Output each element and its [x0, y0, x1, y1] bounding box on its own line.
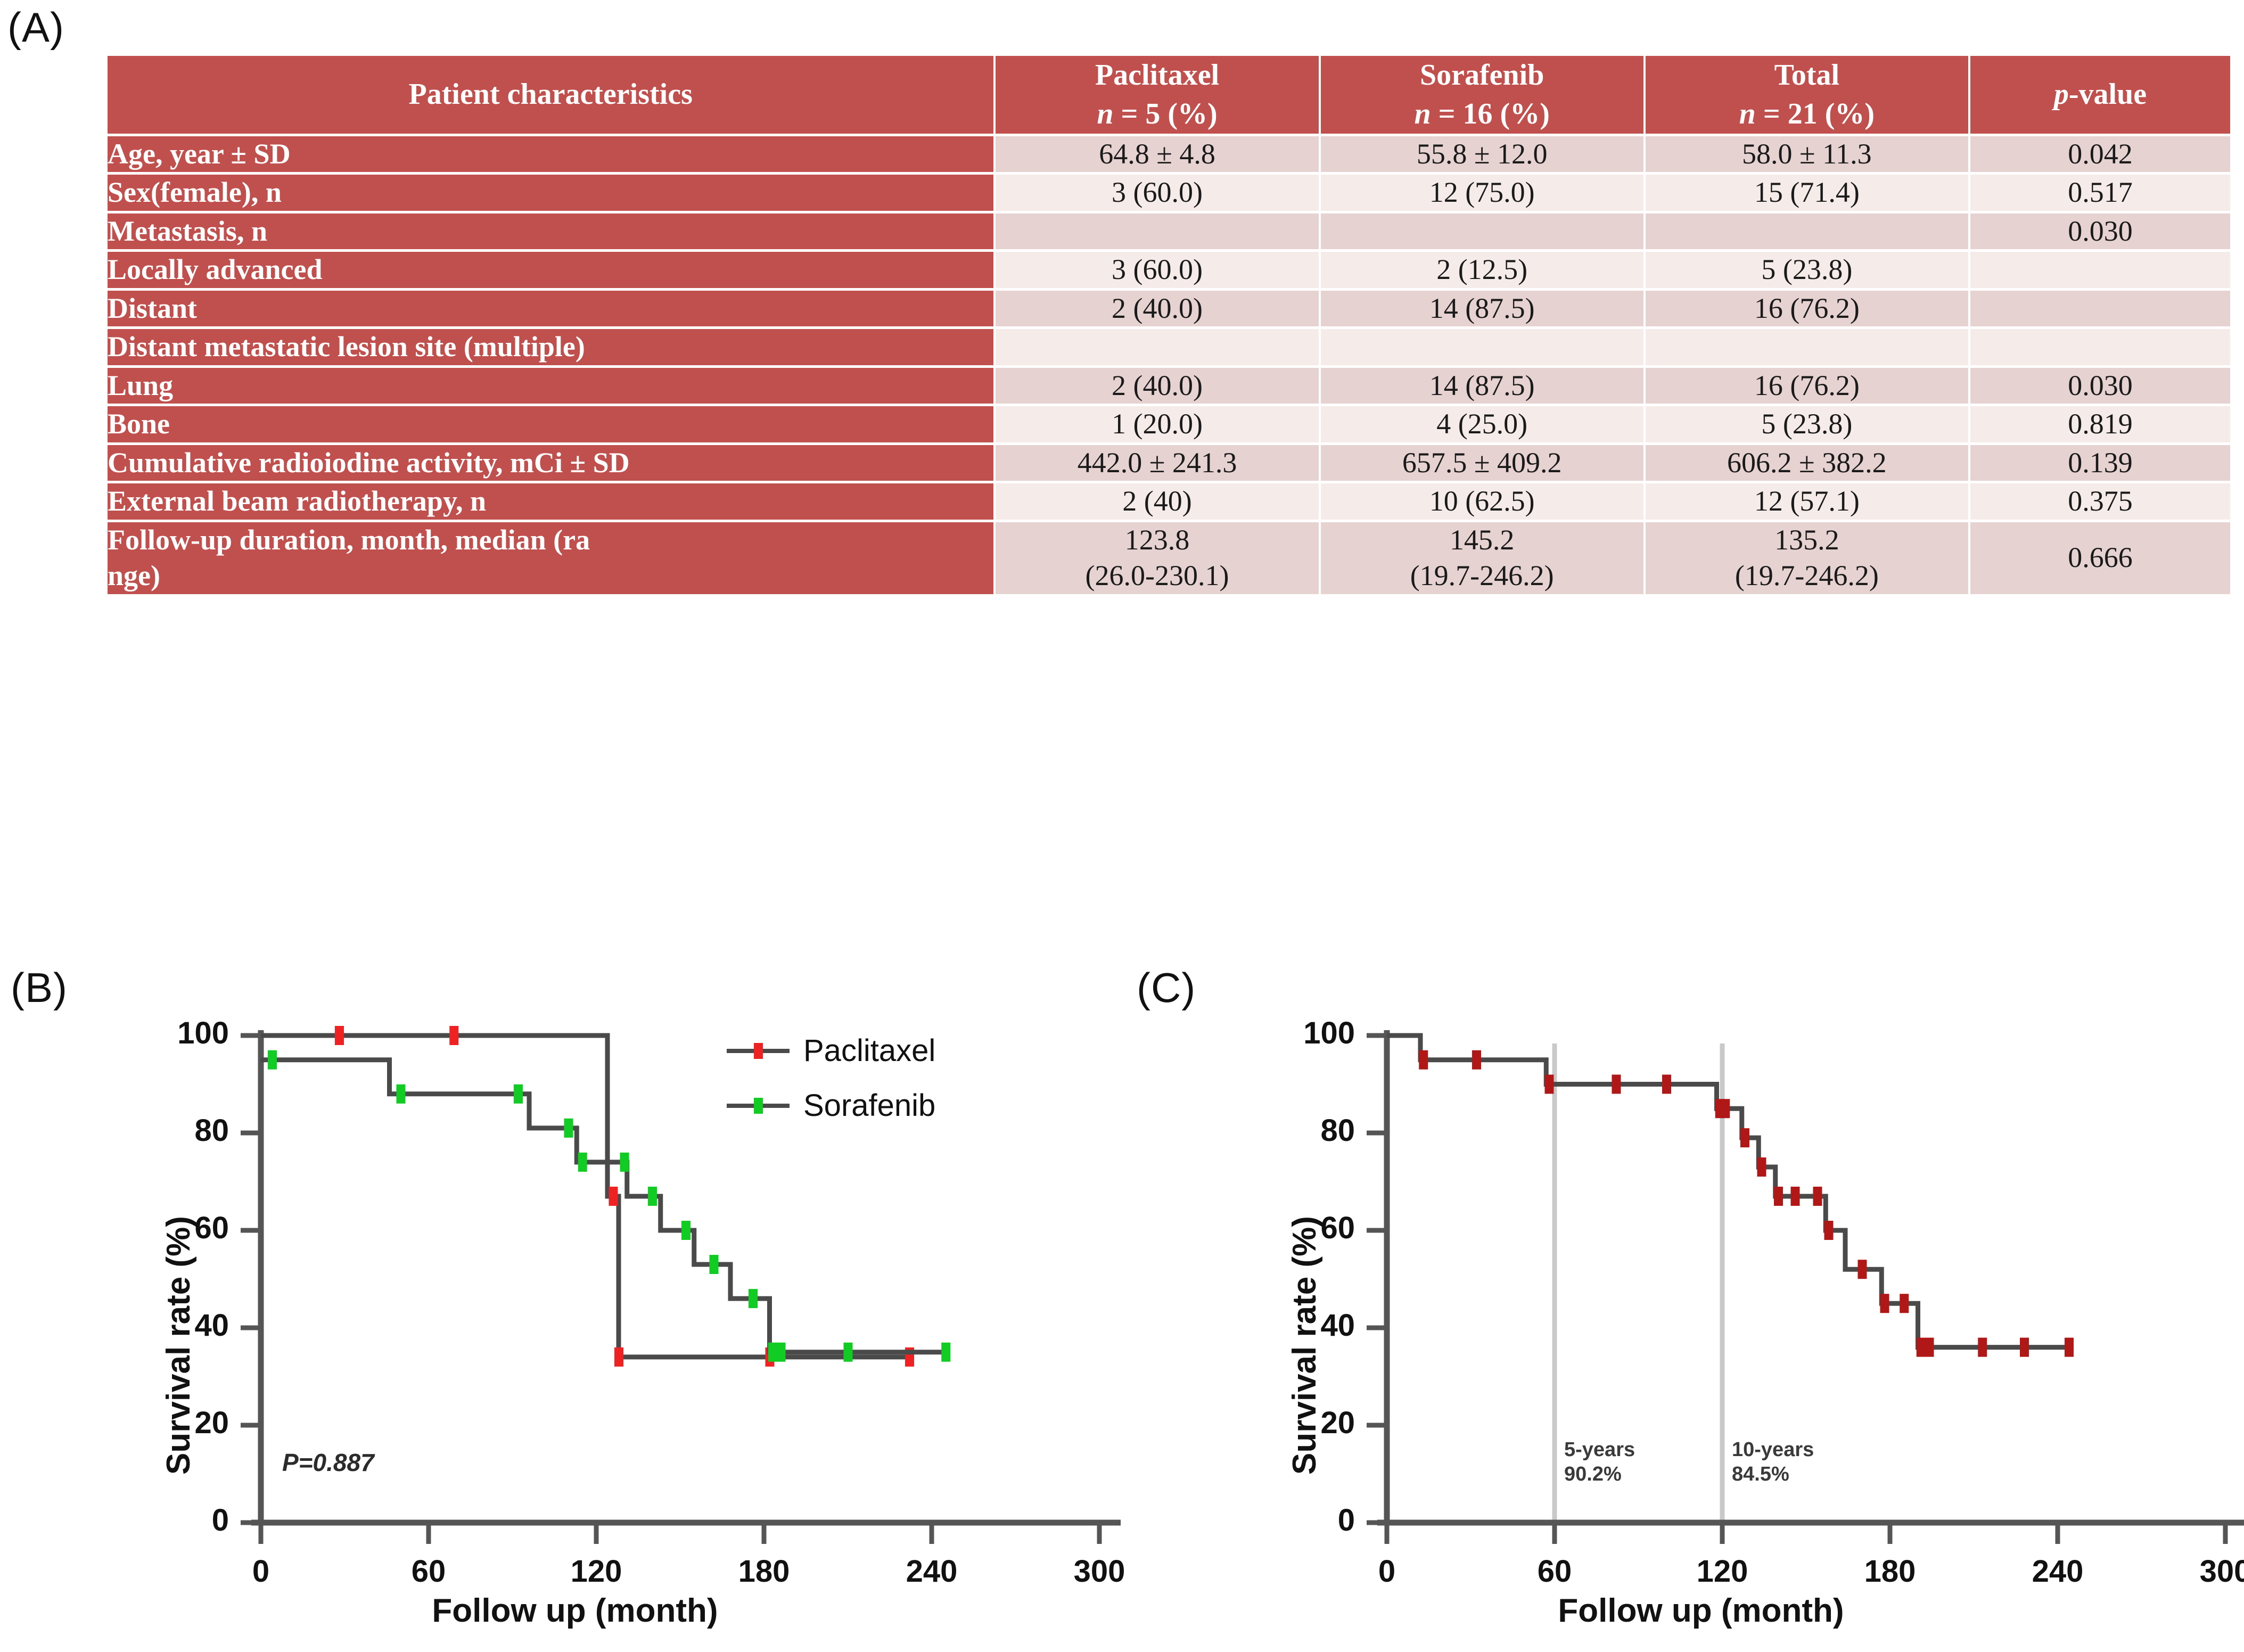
cell-paclitaxel: 2 (40.0)	[996, 368, 1318, 404]
cell-pvalue: 0.517	[1970, 175, 2230, 211]
cell-paclitaxel: 3 (60.0)	[996, 252, 1318, 288]
cell-sorafenib: 4 (25.0)	[1321, 406, 1643, 442]
censor-tick-marker	[681, 1221, 691, 1240]
table-row: Metastasis, n0.030	[108, 213, 2230, 250]
x-tick-label: 300	[2177, 1554, 2244, 1589]
cell-sorafenib: 10 (62.5)	[1321, 483, 1643, 520]
censor-tick-marker	[1978, 1338, 1987, 1357]
table-row: Locally advanced3 (60.0)2 (12.5)5 (23.8)	[108, 252, 2230, 288]
table-row: Sex(female), n3 (60.0)12 (75.0)15 (71.4)…	[108, 175, 2230, 211]
censor-tick-marker	[2065, 1338, 2074, 1357]
censor-tick-marker	[1545, 1075, 1554, 1094]
cell-sorafenib	[1321, 213, 1643, 250]
cell-paclitaxel: 1 (20.0)	[996, 406, 1318, 442]
cell-sorafenib: 14 (87.5)	[1321, 368, 1643, 404]
censor-tick-marker	[578, 1153, 587, 1172]
cell-pvalue	[1970, 329, 2230, 365]
y-tick-label: 80	[1259, 1113, 1355, 1148]
row-label: Lung	[108, 368, 993, 404]
cell-paclitaxel	[996, 329, 1318, 365]
column-header-sorafenib: Sorafenibn = 16 (%)	[1321, 56, 1643, 134]
x-tick-label: 180	[716, 1554, 812, 1589]
x-tick-label: 0	[213, 1554, 309, 1589]
censor-tick-marker	[614, 1347, 623, 1367]
cell-paclitaxel: 3 (60.0)	[996, 175, 1318, 211]
cell-paclitaxel	[996, 213, 1318, 250]
cell-sorafenib: 2 (12.5)	[1321, 252, 1643, 288]
x-tick-label: 120	[548, 1554, 644, 1589]
y-tick-label: 100	[1259, 1015, 1355, 1051]
panel-label-c: (C)	[1137, 964, 1196, 1012]
cell-total: 16 (76.2)	[1646, 368, 1968, 404]
cell-pvalue	[1970, 252, 2230, 288]
table-row: Follow-up duration, month, median (range…	[108, 522, 2230, 594]
reference-annotation-10-years: 10-years 84.5%	[1732, 1437, 1814, 1487]
x-tick-label: 300	[1051, 1554, 1147, 1589]
survival-curve-c-svg	[1248, 1012, 2244, 1640]
censor-tick-marker	[620, 1153, 629, 1172]
censor-tick-marker	[710, 1255, 719, 1274]
cell-sorafenib: 145.2(19.7-246.2)	[1321, 522, 1643, 594]
y-tick-label: 20	[1259, 1405, 1355, 1441]
censor-tick-marker	[648, 1187, 657, 1206]
y-tick-label: 40	[133, 1308, 229, 1343]
row-label: Age, year ± SD	[108, 136, 993, 172]
censor-tick-marker	[941, 1343, 950, 1362]
cell-total: 15 (71.4)	[1646, 175, 1968, 211]
legend-key-sorafenib	[727, 1104, 790, 1108]
table-row: External beam radiotherapy, n2 (40)10 (6…	[108, 483, 2230, 520]
legend-label-sorafenib: Sorafenib	[803, 1088, 935, 1123]
censor-tick-marker	[1917, 1338, 1926, 1357]
y-tick-label: 80	[133, 1113, 229, 1148]
censor-tick-marker	[335, 1026, 344, 1045]
x-axis-title-c: Follow up (month)	[1408, 1592, 1994, 1630]
table-row: Lung2 (40.0)14 (87.5)16 (76.2)0.030	[108, 368, 2230, 404]
censor-tick-marker	[1740, 1128, 1749, 1147]
cell-total	[1646, 213, 1968, 250]
row-label: Metastasis, n	[108, 213, 993, 250]
column-header-total: Totaln = 21 (%)	[1646, 56, 1968, 134]
legend-key-paclitaxel	[727, 1049, 790, 1053]
cell-paclitaxel: 64.8 ± 4.8	[996, 136, 1318, 172]
cell-total: 606.2 ± 382.2	[1646, 445, 1968, 481]
row-label: Sex(female), n	[108, 175, 993, 211]
censor-tick-marker	[1791, 1187, 1800, 1206]
table-row: Bone1 (20.0)4 (25.0)5 (23.8)0.819	[108, 406, 2230, 442]
column-header-pvalue: p-value	[1970, 56, 2230, 134]
row-label: Distant	[108, 291, 993, 327]
row-label: Bone	[108, 406, 993, 442]
table-row: Cumulative radioiodine activity, mCi ± S…	[108, 445, 2230, 481]
y-tick-label: 0	[1259, 1502, 1355, 1538]
y-tick-label: 60	[133, 1210, 229, 1246]
censor-tick-marker	[1858, 1260, 1867, 1279]
censor-tick-marker	[268, 1050, 277, 1070]
cell-pvalue: 0.139	[1970, 445, 2230, 481]
cell-total: 16 (76.2)	[1646, 291, 1968, 327]
censor-tick-marker	[1880, 1294, 1889, 1313]
cell-sorafenib: 12 (75.0)	[1321, 175, 1643, 211]
chart-panel-c: Survival rate (%) Follow up (month) 5-ye…	[1248, 1012, 2244, 1640]
cell-pvalue: 0.042	[1970, 136, 2230, 172]
panel-label-b: (B)	[11, 964, 68, 1012]
row-label: Locally advanced	[108, 252, 993, 288]
table-row: Age, year ± SD64.8 ± 4.855.8 ± 12.058.0 …	[108, 136, 2230, 172]
cell-paclitaxel: 123.8(26.0-230.1)	[996, 522, 1318, 594]
patient-characteristics-table: Patient characteristics Paclitaxeln = 5 …	[105, 53, 2232, 597]
y-tick-label: 40	[1259, 1308, 1355, 1343]
censor-tick-marker	[777, 1343, 786, 1362]
censor-tick-marker	[609, 1187, 618, 1206]
cell-pvalue: 0.030	[1970, 368, 2230, 404]
cell-pvalue: 0.819	[1970, 406, 2230, 442]
censor-tick-marker	[564, 1119, 573, 1138]
legend-label-paclitaxel: Paclitaxel	[803, 1033, 935, 1069]
censor-tick-marker	[749, 1289, 758, 1308]
censor-tick-marker	[514, 1084, 523, 1104]
table-header-row: Patient characteristics Paclitaxeln = 5 …	[108, 56, 2230, 134]
chart-panel-b: Survival rate (%) Follow up (month) P=0.…	[122, 1012, 1123, 1640]
x-axis-title-b: Follow up (month)	[282, 1592, 868, 1630]
censor-tick-marker	[1925, 1338, 1934, 1357]
cell-total: 12 (57.1)	[1646, 483, 1968, 520]
censor-tick-marker	[1472, 1050, 1481, 1070]
x-tick-label: 0	[1339, 1554, 1435, 1589]
legend-item-paclitaxel: Paclitaxel	[727, 1033, 935, 1069]
censor-tick-marker	[449, 1026, 458, 1045]
cell-total: 135.2(19.7-246.2)	[1646, 522, 1968, 594]
censor-tick-icon	[754, 1098, 763, 1114]
survival-step-curve	[261, 1035, 909, 1357]
censor-tick-icon	[754, 1043, 763, 1059]
censor-tick-marker	[1774, 1187, 1783, 1206]
cell-sorafenib: 55.8 ± 12.0	[1321, 136, 1643, 172]
x-tick-label: 240	[884, 1554, 980, 1589]
y-tick-label: 60	[1259, 1210, 1355, 1246]
column-header-characteristics: Patient characteristics	[108, 56, 993, 134]
cell-total: 58.0 ± 11.3	[1646, 136, 1968, 172]
cell-total	[1646, 329, 1968, 365]
p-value-annotation-b: P=0.887	[282, 1448, 374, 1477]
cell-pvalue	[1970, 291, 2230, 327]
table-row: Distant2 (40.0)14 (87.5)16 (76.2)	[108, 291, 2230, 327]
cell-paclitaxel: 442.0 ± 241.3	[996, 445, 1318, 481]
cell-pvalue: 0.030	[1970, 213, 2230, 250]
censor-tick-marker	[768, 1343, 777, 1362]
x-tick-label: 240	[2010, 1554, 2106, 1589]
cell-pvalue: 0.666	[1970, 522, 2230, 594]
row-label: Cumulative radioiodine activity, mCi ± S…	[108, 445, 993, 481]
censor-tick-marker	[1612, 1075, 1621, 1094]
censor-tick-marker	[1824, 1221, 1834, 1240]
x-tick-label: 180	[1842, 1554, 1938, 1589]
cell-sorafenib	[1321, 329, 1643, 365]
cell-sorafenib: 14 (87.5)	[1321, 291, 1643, 327]
survival-step-curve	[1387, 1035, 2069, 1347]
row-label: Distant metastatic lesion site (multiple…	[108, 329, 993, 365]
censor-tick-marker	[1900, 1294, 1909, 1313]
row-label: Follow-up duration, month, median (range…	[108, 522, 993, 594]
row-label: External beam radiotherapy, n	[108, 483, 993, 520]
survival-curve-b-svg	[122, 1012, 1123, 1640]
cell-sorafenib: 657.5 ± 409.2	[1321, 445, 1643, 481]
legend-item-sorafenib: Sorafenib	[727, 1088, 935, 1123]
cell-total: 5 (23.8)	[1646, 252, 1968, 288]
censor-tick-marker	[1662, 1075, 1671, 1094]
table-row: Distant metastatic lesion site (multiple…	[108, 329, 2230, 365]
cell-paclitaxel: 2 (40.0)	[996, 291, 1318, 327]
y-tick-label: 100	[133, 1015, 229, 1051]
panel-label-a: (A)	[7, 3, 64, 52]
censor-tick-marker	[2020, 1338, 2029, 1357]
censor-tick-marker	[1419, 1050, 1428, 1070]
column-header-paclitaxel: Paclitaxeln = 5 (%)	[996, 56, 1318, 134]
x-tick-label: 60	[1507, 1554, 1602, 1589]
x-tick-label: 60	[381, 1554, 476, 1589]
censor-tick-marker	[397, 1084, 406, 1104]
cell-total: 5 (23.8)	[1646, 406, 1968, 442]
cell-paclitaxel: 2 (40)	[996, 483, 1318, 520]
y-tick-label: 0	[133, 1502, 229, 1538]
reference-annotation-5-years: 5-years 90.2%	[1564, 1437, 1635, 1487]
x-tick-label: 120	[1674, 1554, 1770, 1589]
censor-tick-marker	[1757, 1157, 1766, 1177]
censor-tick-marker	[1813, 1187, 1822, 1206]
censor-tick-marker	[844, 1343, 853, 1362]
cell-pvalue: 0.375	[1970, 483, 2230, 520]
censor-tick-marker	[1721, 1099, 1730, 1118]
y-tick-label: 20	[133, 1405, 229, 1441]
